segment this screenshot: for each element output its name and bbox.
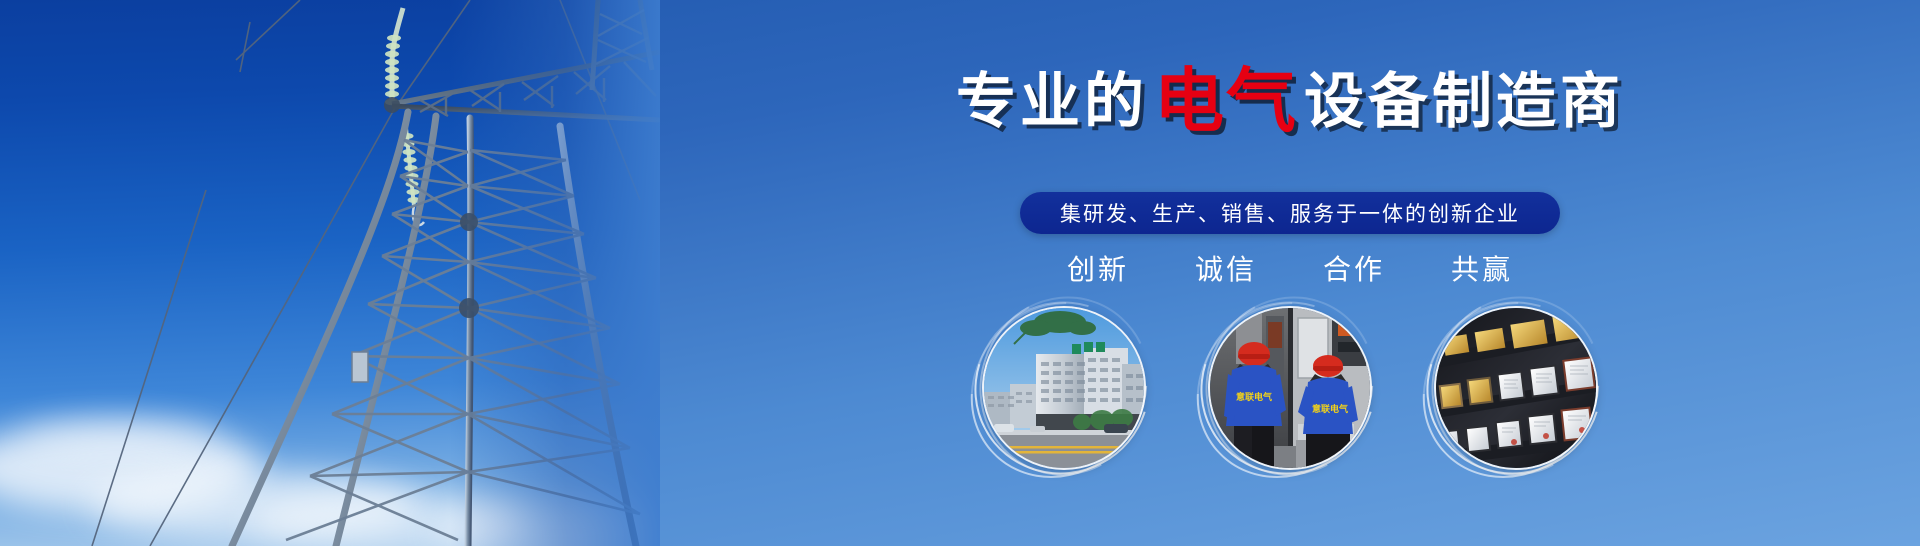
equipment-box: [352, 352, 368, 382]
keyword-integrity: 诚信: [1195, 248, 1257, 288]
subtitle-text: 集研发、生产、销售、服务于一体的创新企业: [1060, 198, 1520, 228]
promotional-banner: 专业的电气设备制造商 集研发、生产、销售、服务于一体的创新企业 创新 诚信 合作…: [0, 0, 1920, 546]
technicians-at-work-photo[interactable]: 意联电气 意联电气: [1210, 308, 1370, 468]
svg-text:意联电气: 意联电气: [1312, 403, 1348, 414]
photo-disc: 意联电气 意联电气: [1210, 308, 1370, 468]
photo-circle-list: 意联电气 意联电气: [660, 308, 1920, 468]
office-building-photo[interactable]: [984, 308, 1144, 468]
transmission-tower-photo: [0, 0, 660, 546]
keyword-cooperation: 合作: [1323, 248, 1385, 288]
keyword-innovation: 创新: [1067, 248, 1129, 288]
headline-part-1: 专业的: [956, 72, 1148, 132]
headline-part-2: 设备制造商: [1304, 72, 1624, 132]
photo-disc: [984, 308, 1144, 468]
headline-highlight: 电气: [1154, 66, 1298, 136]
headline: 专业的电气设备制造商: [660, 66, 1920, 136]
banner-content: 专业的电气设备制造商 集研发、生产、销售、服务于一体的创新企业 创新 诚信 合作…: [660, 0, 1920, 546]
photo-disc: [1436, 308, 1596, 468]
photo-fade-overlay: [450, 0, 660, 546]
certificate-wall-photo[interactable]: [1436, 308, 1596, 468]
subtitle-pill: 集研发、生产、销售、服务于一体的创新企业: [1020, 192, 1560, 234]
svg-text:意联电气: 意联电气: [1236, 391, 1272, 402]
keyword-winwin: 共赢: [1451, 248, 1513, 288]
keyword-list: 创新 诚信 合作 共赢: [660, 248, 1920, 288]
